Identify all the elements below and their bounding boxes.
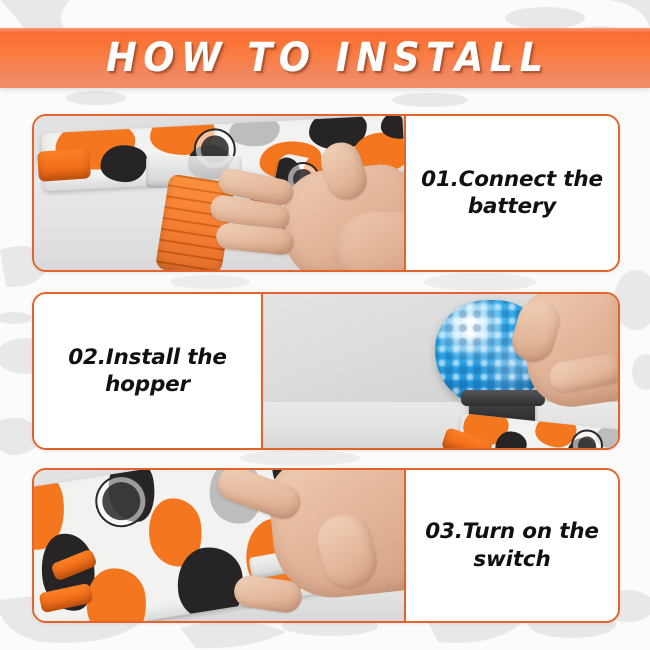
step-panel-3: 03.Turn on the switch xyxy=(32,468,620,623)
step-2-photo xyxy=(263,294,618,448)
step-3-caption-area: 03.Turn on the switch xyxy=(406,470,618,621)
step-1-caption: 01.Connect the battery xyxy=(420,166,604,220)
header-banner: HOW TO INSTALL xyxy=(0,28,650,88)
blaster-muzzle xyxy=(37,148,91,182)
page-title: HOW TO INSTALL xyxy=(100,35,550,81)
step-2-caption-area: 02.Install the hopper xyxy=(34,294,261,448)
step-panel-2: 02.Install the hopper xyxy=(32,292,620,450)
step-1-caption-area: 01.Connect the battery xyxy=(406,116,618,270)
step-1-photo xyxy=(34,116,404,270)
step-panel-1: 01.Connect the battery xyxy=(32,114,620,272)
step-3-caption: 03.Turn on the switch xyxy=(420,518,604,572)
hopper-mount-collar xyxy=(461,390,545,406)
step-2-caption: 02.Install the hopper xyxy=(48,344,247,398)
step-3-photo xyxy=(34,470,404,621)
